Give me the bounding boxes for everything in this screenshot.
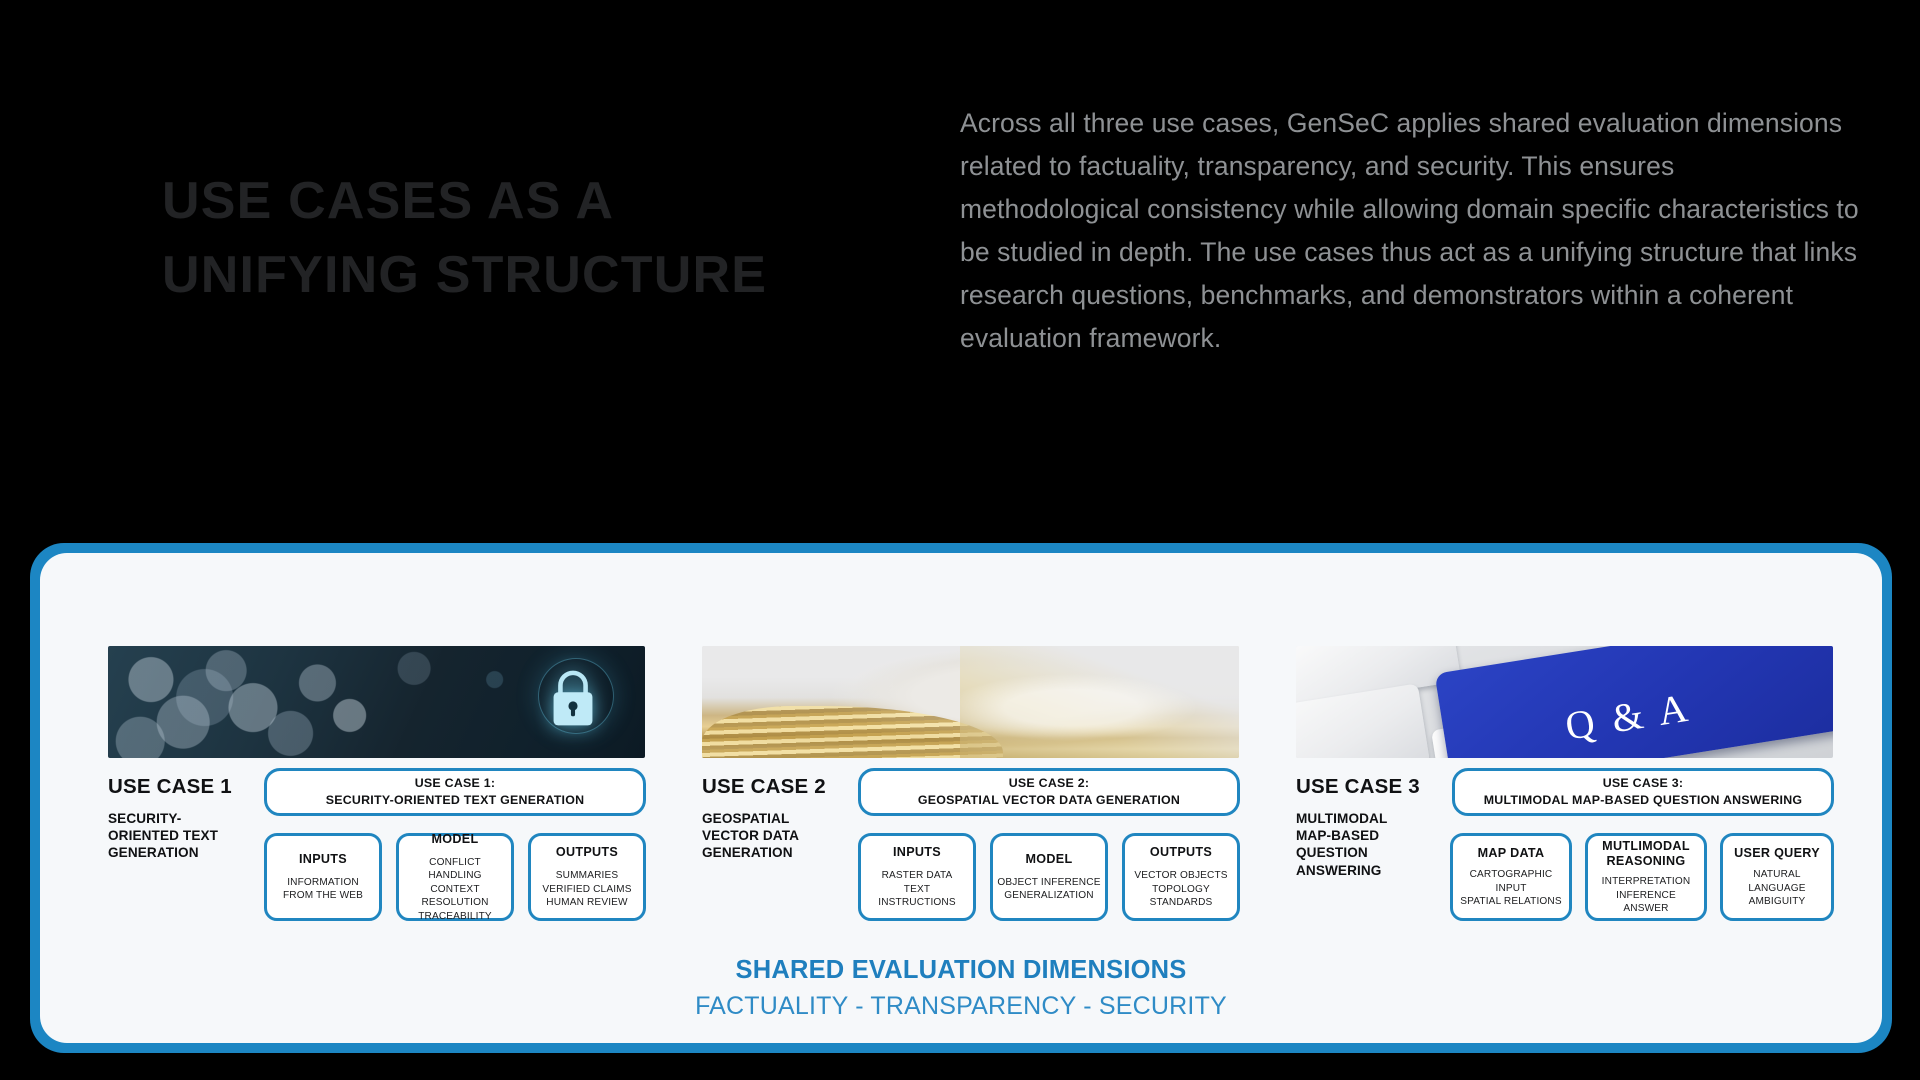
box-heading: OUTPUTS	[1150, 845, 1212, 860]
use-case-1-image	[108, 646, 645, 758]
box-heading: MODEL	[432, 832, 479, 847]
use-case-2-image	[702, 646, 1239, 758]
use-case-2-banner-line2: GEOSPATIAL VECTOR DATA GENERATION	[918, 792, 1180, 809]
page-title: USE CASES AS A UNIFYING STRUCTURE	[162, 165, 782, 313]
use-case-3-box-reasoning: MUTLIMODAL REASONING INTERPRETATIONINFER…	[1585, 833, 1707, 921]
use-case-2-banner-line1: USE CASE 2:	[1009, 775, 1090, 792]
box-body: CONFLICT HANDLINGCONTEXT RESOLUTIONTRACE…	[403, 856, 507, 924]
box-heading: MAP DATA	[1478, 846, 1545, 861]
use-case-2-number: USE CASE 2	[702, 775, 830, 799]
box-heading: MUTLIMODAL REASONING	[1592, 839, 1700, 868]
use-case-3-image: Q & A	[1296, 646, 1833, 758]
use-case-3-banner: USE CASE 3: MULTIMODAL MAP-BASED QUESTIO…	[1452, 768, 1834, 816]
footer-heading: SHARED EVALUATION DIMENSIONS	[40, 956, 1882, 985]
use-case-2-box-model: MODEL OBJECT INFERENCEGENERALIZATION	[990, 833, 1108, 921]
box-heading: INPUTS	[299, 852, 347, 867]
box-body: RASTER DATATEXT INSTRUCTIONS	[865, 869, 969, 910]
use-cases-panel: USE CASE 1 SECURITY-ORIENTED TEXT GENERA…	[30, 543, 1892, 1053]
use-case-2-box-outputs: OUTPUTS VECTOR OBJECTSTOPOLOGYSTANDARDS	[1122, 833, 1240, 921]
use-case-1-box-model: MODEL CONFLICT HANDLINGCONTEXT RESOLUTIO…	[396, 833, 514, 921]
box-heading: MODEL	[1026, 852, 1073, 867]
intro-paragraph: Across all three use cases, GenSeC appli…	[960, 102, 1860, 360]
box-body: SUMMARIESVERIFIED CLAIMSHUMAN REVIEW	[542, 869, 631, 910]
box-body: CARTOGRAPHIC INPUTSPATIAL RELATIONS	[1457, 868, 1565, 909]
lock-icon	[544, 666, 602, 730]
box-body: INTERPRETATIONINFERENCEANSWER	[1602, 875, 1691, 916]
use-case-1-box-outputs: OUTPUTS SUMMARIESVERIFIED CLAIMSHUMAN RE…	[528, 833, 646, 921]
footer-subtext: FACTUALITY - TRANSPARENCY - SECURITY	[40, 992, 1882, 1021]
use-case-3-banner-line2: MULTIMODAL MAP-BASED QUESTION ANSWERING	[1484, 792, 1803, 809]
use-case-2-label: USE CASE 2 GEOSPATIAL VECTOR DATA GENERA…	[702, 775, 830, 862]
topographic-contour-model-photo	[702, 646, 1239, 758]
use-case-3-number: USE CASE 3	[1296, 775, 1424, 799]
use-case-3-name: MULTIMODAL MAP-BASED QUESTION ANSWERING	[1296, 810, 1424, 879]
use-case-1-label: USE CASE 1 SECURITY-ORIENTED TEXT GENERA…	[108, 775, 248, 862]
use-case-3-box-map-data: MAP DATA CARTOGRAPHIC INPUTSPATIAL RELAT…	[1450, 833, 1572, 921]
use-case-1-banner-line1: USE CASE 1:	[415, 775, 496, 792]
box-heading: INPUTS	[893, 845, 941, 860]
box-heading: OUTPUTS	[556, 845, 618, 860]
use-case-2-name: GEOSPATIAL VECTOR DATA GENERATION	[702, 810, 830, 861]
use-case-3-label: USE CASE 3 MULTIMODAL MAP-BASED QUESTION…	[1296, 775, 1424, 879]
use-case-1-banner: USE CASE 1: SECURITY-ORIENTED TEXT GENER…	[264, 768, 646, 816]
use-case-1-box-inputs: INPUTS INFORMATIONFROM THE WEB	[264, 833, 382, 921]
shared-dimensions-footer: SHARED EVALUATION DIMENSIONS FACTUALITY …	[40, 956, 1882, 1021]
box-body: NATURAL LANGUAGEAMBIGUITY	[1727, 868, 1827, 909]
slide-root: USE CASES AS A UNIFYING STRUCTURE Across…	[0, 0, 1920, 1080]
box-body: OBJECT INFERENCEGENERALIZATION	[997, 876, 1100, 903]
use-case-1-number: USE CASE 1	[108, 775, 248, 799]
box-body: INFORMATIONFROM THE WEB	[283, 876, 363, 903]
box-heading: USER QUERY	[1734, 846, 1820, 861]
use-case-3-box-user-query: USER QUERY NATURAL LANGUAGEAMBIGUITY	[1720, 833, 1834, 921]
use-case-1-banner-line2: SECURITY-ORIENTED TEXT GENERATION	[326, 792, 585, 809]
cybersecurity-lock-photo	[108, 646, 645, 758]
use-case-2-banner: USE CASE 2: GEOSPATIAL VECTOR DATA GENER…	[858, 768, 1240, 816]
use-case-1-name: SECURITY-ORIENTED TEXT GENERATION	[108, 810, 248, 861]
use-case-3-banner-line1: USE CASE 3:	[1603, 775, 1684, 792]
use-case-2-box-inputs: INPUTS RASTER DATATEXT INSTRUCTIONS	[858, 833, 976, 921]
use-cases-panel-inner: USE CASE 1 SECURITY-ORIENTED TEXT GENERA…	[40, 553, 1882, 1043]
keyboard-qa-key-photo: Q & A	[1296, 646, 1833, 758]
box-body: VECTOR OBJECTSTOPOLOGYSTANDARDS	[1134, 869, 1227, 910]
